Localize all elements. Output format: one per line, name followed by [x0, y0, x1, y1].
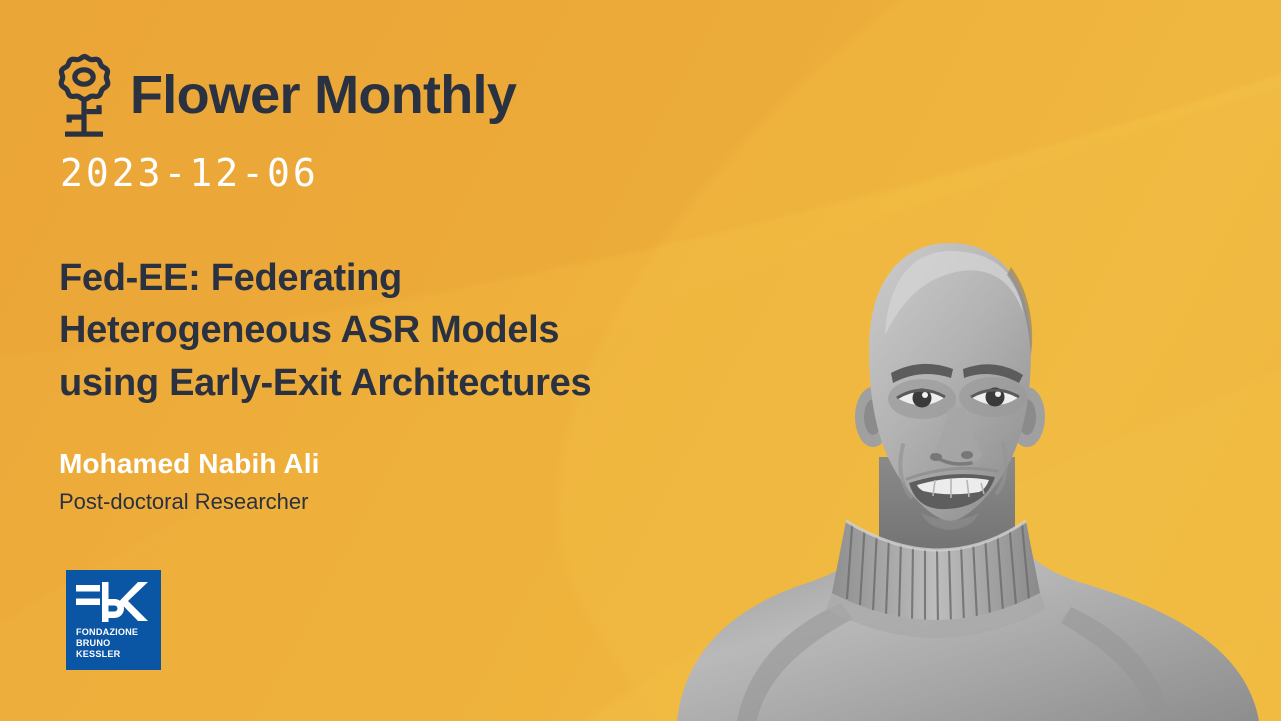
event-date: 2023-12-06 [60, 154, 319, 192]
speaker-name: Mohamed Nabih Ali [59, 450, 319, 478]
fbk-logo-text-line-1: FONDAZIONE [76, 627, 149, 638]
talk-title-line-3: using Early-Exit Architectures [59, 357, 779, 409]
brand-header: Flower Monthly [52, 52, 516, 138]
flower-icon [52, 52, 116, 138]
fbk-logo: FONDAZIONE BRUNO KESSLER [66, 570, 161, 670]
fbk-logo-text-line-2: BRUNO KESSLER [76, 638, 149, 660]
talk-title: Fed-EE: Federating Heterogeneous ASR Mod… [59, 252, 779, 409]
fbk-logo-text: FONDAZIONE BRUNO KESSLER [76, 627, 149, 660]
series-wordmark: Flower Monthly [130, 68, 516, 122]
talk-title-line-2: Heterogeneous ASR Models [59, 304, 779, 356]
presentation-slide: Flower Monthly 2023-12-06 Fed-EE: Federa… [0, 0, 1281, 721]
talk-title-line-1: Fed-EE: Federating [59, 252, 779, 304]
speaker-role: Post-doctoral Researcher [59, 491, 308, 513]
